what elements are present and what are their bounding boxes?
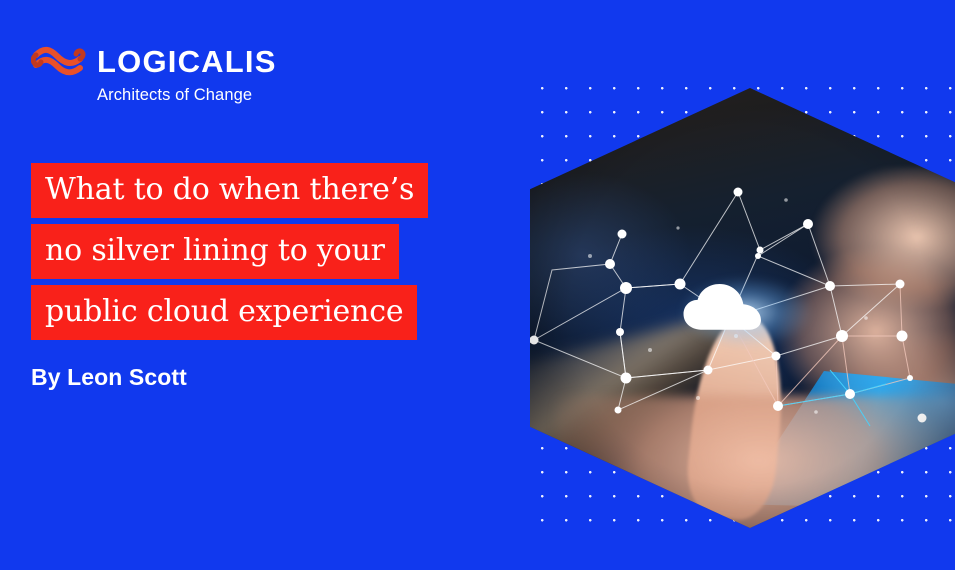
hexagon-artwork [530, 88, 955, 528]
headline-line-1: What to do when there’s [31, 163, 428, 218]
headline-line-2: no silver lining to your [31, 224, 399, 279]
headline-line-3: public cloud experience [31, 285, 417, 340]
byline: By Leon Scott [31, 364, 187, 391]
blog-banner: LOGICALIS Architects of Change What to d… [0, 0, 955, 570]
logo-row: LOGICALIS [31, 45, 277, 77]
artwork-vignette [530, 88, 955, 528]
logicalis-logo[interactable]: LOGICALIS Architects of Change [31, 45, 277, 105]
logicalis-wave-ribbon-icon [31, 45, 87, 77]
logo-tagline: Architects of Change [97, 86, 252, 105]
logo-wordmark: LOGICALIS [97, 46, 277, 77]
page-title: What to do when there’s no silver lining… [31, 163, 428, 346]
